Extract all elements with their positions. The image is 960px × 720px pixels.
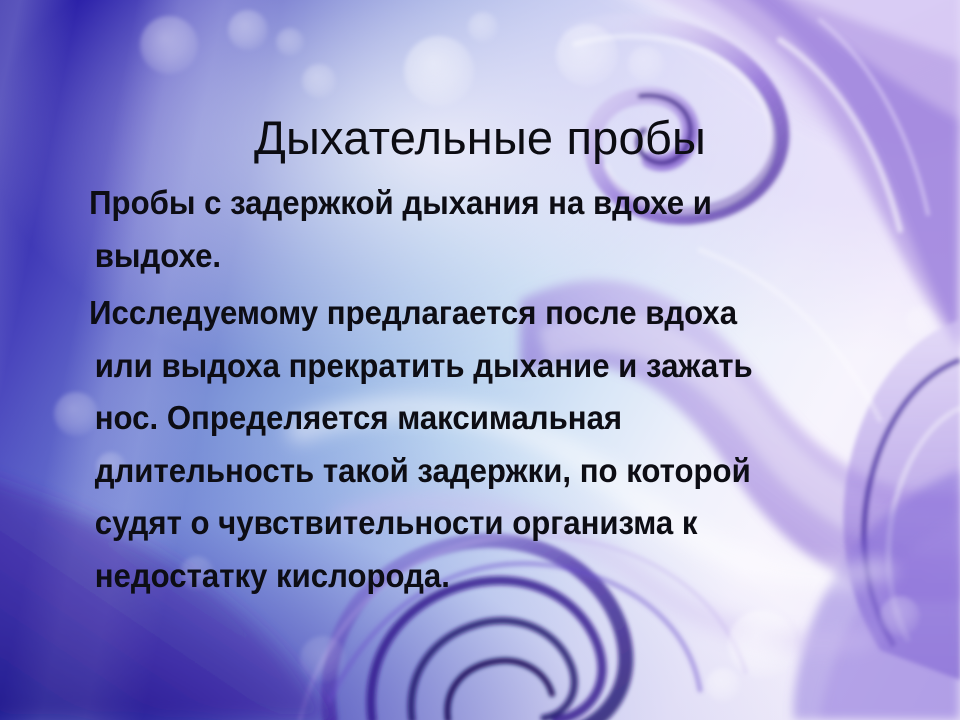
- orb-bottom-right-2-icon: [706, 668, 740, 702]
- body-paragraph: Исследуемому предлагается после вдоха ил…: [78, 288, 850, 603]
- orb-bottom-right-1-icon: [728, 610, 796, 678]
- body-line: или выдоха прекратить дыхание и зажать: [78, 341, 850, 394]
- presentation-slide: Дыхательные пробы Пробы с задержкой дыха…: [0, 0, 960, 720]
- body-line: длительность такой задержки, по которой: [78, 446, 850, 499]
- orb-upper-large-icon: [404, 36, 474, 106]
- orb-top-mid-icon: [276, 28, 304, 56]
- orb-bottom-center-icon: [300, 636, 346, 682]
- orb-upper-small-icon: [468, 12, 498, 42]
- body-line: Пробы с задержкой дыхания на вдохе и: [78, 178, 850, 231]
- body-line: недостатку кислорода.: [78, 551, 850, 604]
- orb-upper-far-right-icon: [628, 46, 664, 82]
- orb-top-center-icon: [228, 10, 268, 50]
- body-paragraph: Пробы с задержкой дыхания на вдохе и выд…: [78, 178, 850, 283]
- body-line: нос. Определяется максимальная: [78, 393, 850, 446]
- body-line: судят о чувствительности организма к: [78, 498, 850, 551]
- orb-upper-right-icon: [556, 24, 618, 86]
- slide-title: Дыхательные пробы: [0, 113, 960, 163]
- slide-body: Пробы с задержкой дыхания на вдохе и выд…: [78, 178, 908, 603]
- orb-top-left-icon: [140, 16, 198, 74]
- orb-right-mid-icon: [906, 306, 936, 336]
- body-line: Исследуемому предлагается после вдоха: [78, 288, 850, 341]
- orb-title-left-icon: [302, 64, 336, 98]
- body-line: выдохе.: [78, 231, 850, 284]
